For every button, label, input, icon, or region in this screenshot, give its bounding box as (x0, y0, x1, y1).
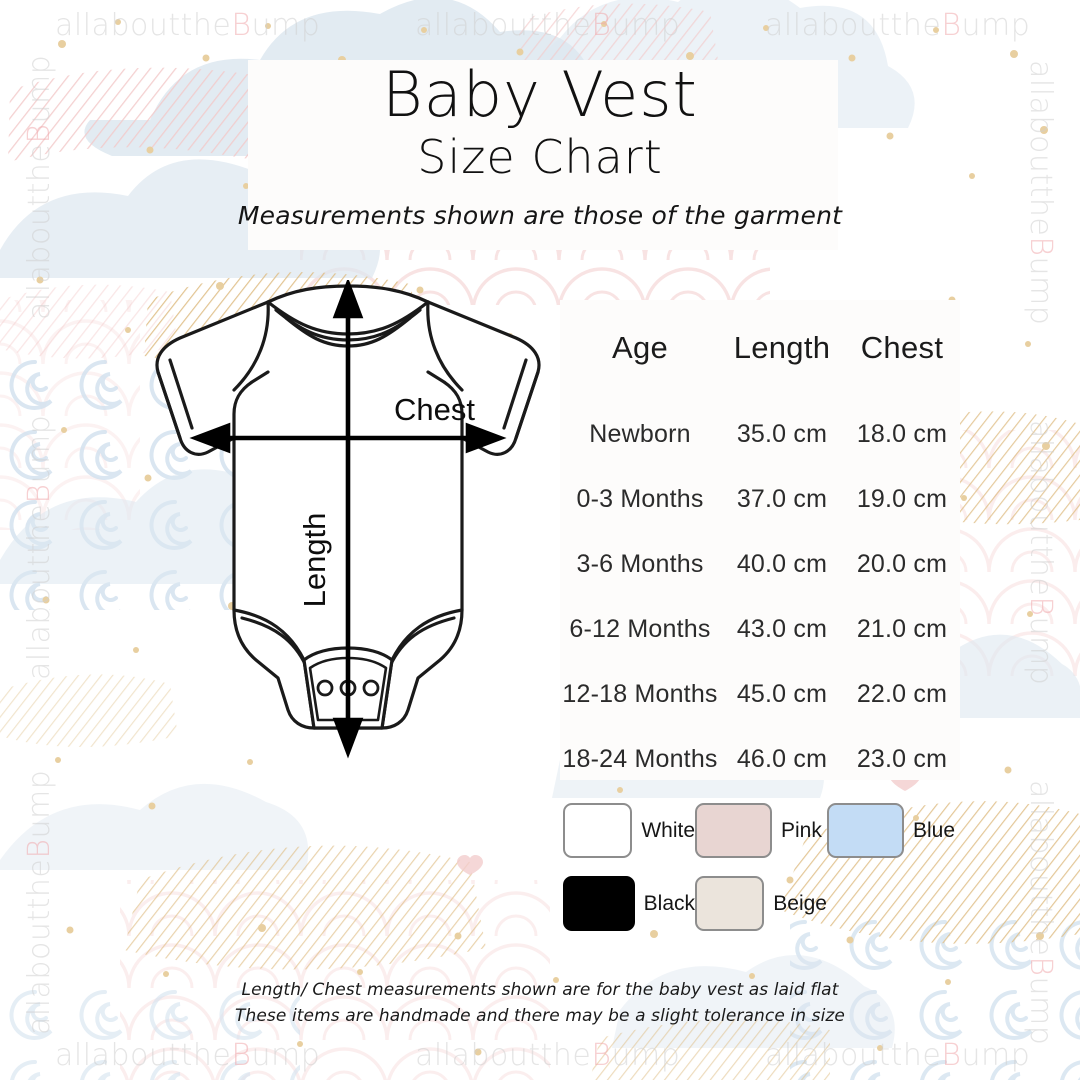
watermark-right-2: allabouttheBump (1023, 420, 1058, 685)
swatch-pink[interactable]: Pink (695, 803, 827, 858)
table-header-row: Age Length Chest (560, 330, 960, 402)
length-arrow-label: Length (297, 513, 332, 608)
swatch-box-black (563, 876, 635, 931)
footer-line-1: Length/ Chest measurements shown are for… (0, 978, 1080, 1004)
cell-chest: 23.0 cm (844, 727, 960, 792)
cell-length: 45.0 cm (720, 662, 844, 727)
watermark-bottom-2: allabouttheBump (415, 1038, 680, 1073)
cell-chest: 19.0 cm (844, 467, 960, 532)
swatch-box-beige (695, 876, 764, 931)
chest-arrow-label: Chest (394, 392, 475, 427)
page-subtitle: Size Chart (0, 133, 1080, 181)
table-row: 0-3 Months 37.0 cm 19.0 cm (560, 467, 960, 532)
watermark-top-1: allabouttheBump (55, 8, 320, 43)
swatch-label-black: Black (644, 892, 695, 916)
cell-age: 12-18 Months (560, 662, 720, 727)
column-header-length: Length (720, 330, 844, 402)
size-chart-canvas: allabouttheBump allabouttheBump allabout… (0, 0, 1080, 1080)
watermark-bottom-1: allabouttheBump (55, 1038, 320, 1073)
watermark-top-3: allabouttheBump (765, 8, 1030, 43)
watermark-top-2: allabouttheBump (415, 8, 680, 43)
cell-length: 43.0 cm (720, 597, 844, 662)
swatch-label-white: White (641, 819, 695, 843)
swatch-label-pink: Pink (781, 819, 822, 843)
swatch-beige[interactable]: Beige (695, 876, 827, 931)
cell-length: 35.0 cm (720, 402, 844, 467)
page-title: Baby Vest (0, 62, 1080, 127)
watermark-bottom-3: allabouttheBump (765, 1038, 1030, 1073)
watermark-left-2: allabouttheBump (22, 415, 57, 680)
cell-chest: 18.0 cm (844, 402, 960, 467)
column-header-chest: Chest (844, 330, 960, 402)
table-row: Newborn 35.0 cm 18.0 cm (560, 402, 960, 467)
cell-age: 3-6 Months (560, 532, 720, 597)
swatch-white[interactable]: White (563, 803, 695, 858)
table-row: 6-12 Months 43.0 cm 21.0 cm (560, 597, 960, 662)
swatch-black[interactable]: Black (563, 876, 695, 931)
swatch-label-blue: Blue (913, 819, 955, 843)
table-row: 18-24 Months 46.0 cm 23.0 cm (560, 727, 960, 792)
cell-length: 37.0 cm (720, 467, 844, 532)
cell-chest: 22.0 cm (844, 662, 960, 727)
size-table: Age Length Chest Newborn 35.0 cm 18.0 cm… (560, 330, 960, 792)
cell-age: 6-12 Months (560, 597, 720, 662)
page-tagline: Measurements shown are those of the garm… (0, 201, 1080, 230)
cell-age: Newborn (560, 402, 720, 467)
colour-swatches: White Pink Blue Black Beige (563, 803, 983, 931)
header: Baby Vest Size Chart Measurements shown … (0, 62, 1080, 230)
footer-line-2: These items are handmade and there may b… (0, 1004, 1080, 1030)
cell-age: 0-3 Months (560, 467, 720, 532)
table-row: 12-18 Months 45.0 cm 22.0 cm (560, 662, 960, 727)
table-row: 3-6 Months 40.0 cm 20.0 cm (560, 532, 960, 597)
swatch-row-2: Black Beige (563, 876, 983, 931)
swatch-box-blue (827, 803, 904, 858)
cell-length: 40.0 cm (720, 532, 844, 597)
column-header-age: Age (560, 330, 720, 402)
size-table-container: Age Length Chest Newborn 35.0 cm 18.0 cm… (560, 330, 960, 792)
baby-vest-drawing: Chest Length (118, 280, 578, 770)
cell-length: 46.0 cm (720, 727, 844, 792)
cell-chest: 20.0 cm (844, 532, 960, 597)
cell-chest: 21.0 cm (844, 597, 960, 662)
swatch-box-white (563, 803, 632, 858)
cell-age: 18-24 Months (560, 727, 720, 792)
swatch-row-1: White Pink Blue (563, 803, 983, 858)
footer-disclaimer: Length/ Chest measurements shown are for… (0, 978, 1080, 1029)
swatch-box-pink (695, 803, 772, 858)
garment-illustration: Chest Length (118, 280, 578, 770)
swatch-blue[interactable]: Blue (827, 803, 959, 858)
swatch-label-beige: Beige (773, 892, 827, 916)
